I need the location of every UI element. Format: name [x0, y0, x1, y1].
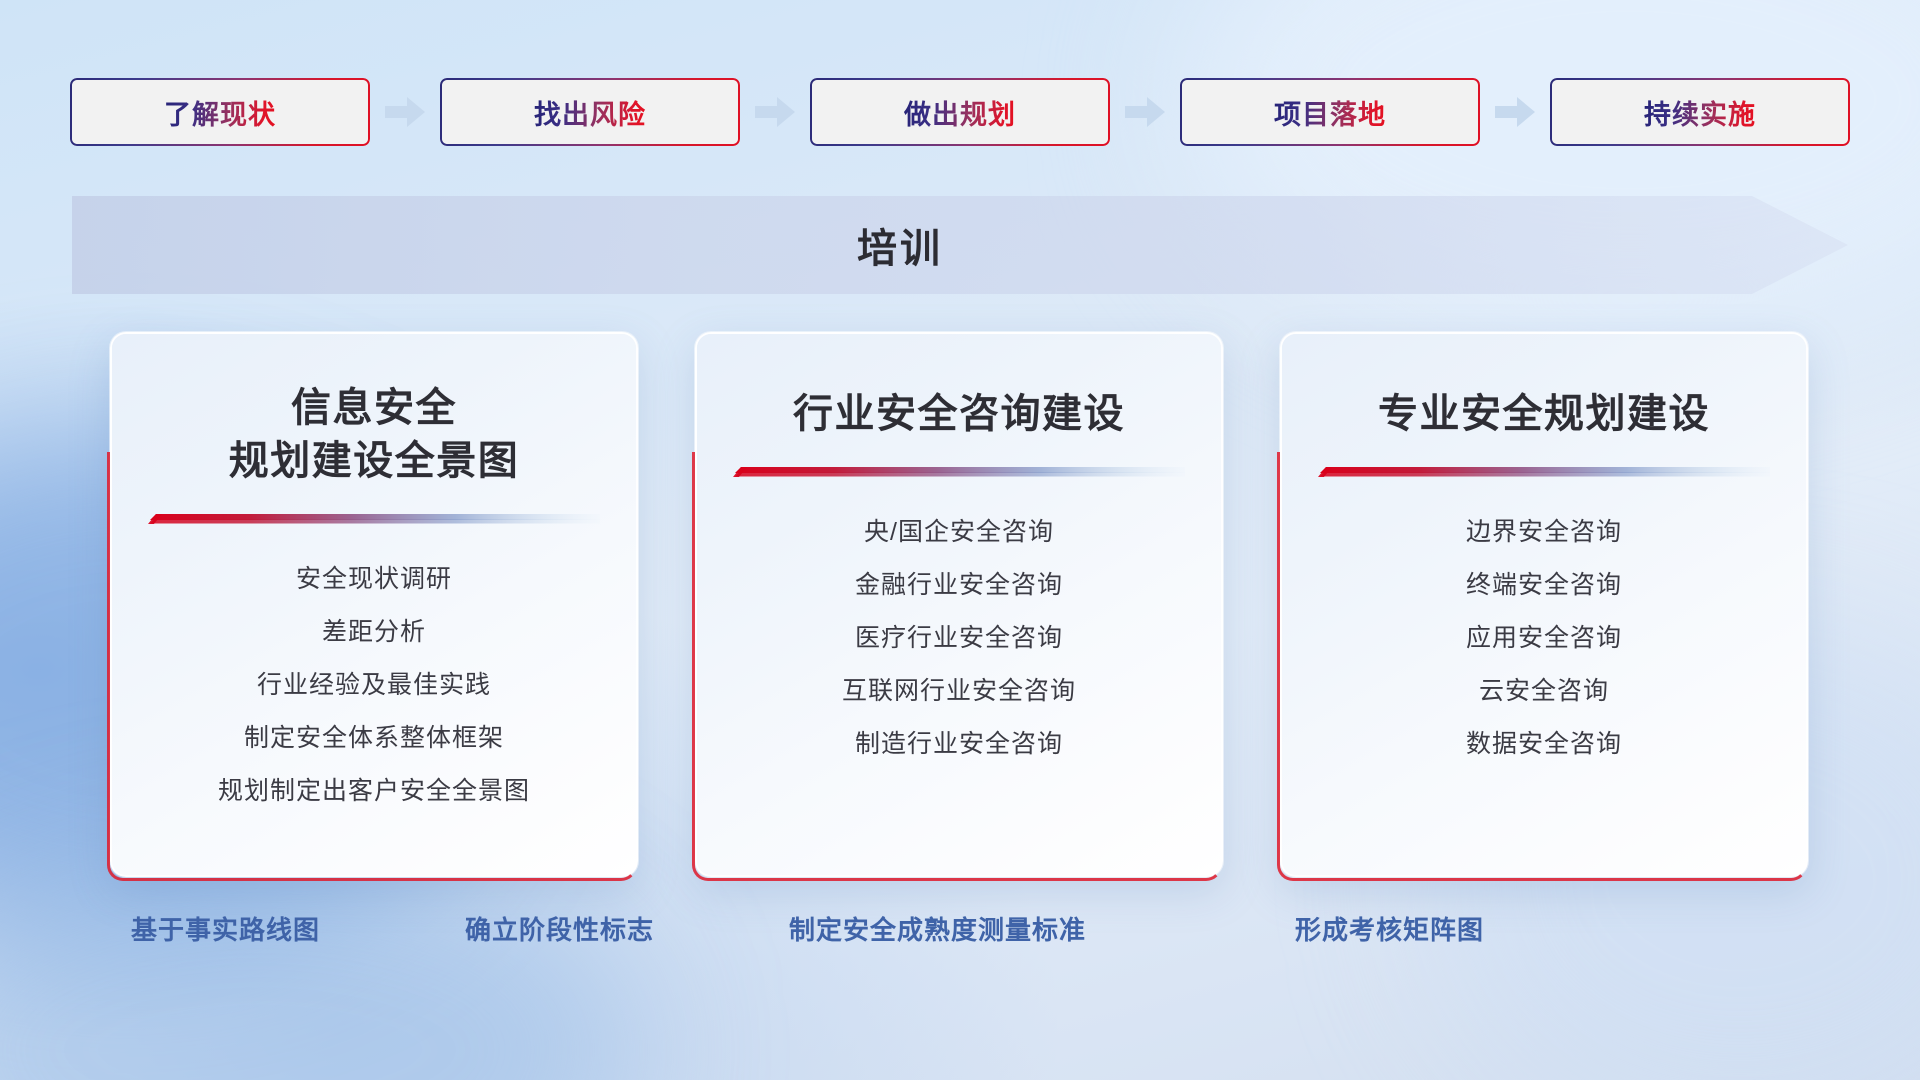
list-item: 规划制定出客户安全全景图 [218, 765, 530, 818]
card-3-body: 专业安全规划建设 [1282, 334, 1806, 875]
step-box-4[interactable]: 项目落地 [1180, 78, 1480, 146]
card-divider [148, 514, 600, 525]
training-title: 培训 [72, 196, 1728, 294]
right-arrow-icon [385, 97, 425, 127]
bottom-caption-1: 基于事实路线图 [131, 910, 320, 947]
card-1-body: 信息安全 规划建设全景图 [112, 334, 636, 875]
step-arrow-3 [1110, 97, 1180, 127]
bottom-caption-2: 确立阶段性标志 [465, 910, 654, 947]
card-item-list: 边界安全咨询 终端安全咨询 应用安全咨询 云安全咨询 数据安全咨询 [1282, 506, 1806, 771]
gradient-divider-icon [1318, 467, 1770, 478]
step-box-1-inner: 了解现状 [72, 80, 368, 144]
step-arrow-1 [370, 97, 440, 127]
card-item-list: 安全现状调研 差距分析 行业经验及最佳实践 制定安全体系整体框架 规划制定出客户… [112, 553, 636, 818]
process-step-row: 了解现状 找出风险 做出规划 [70, 78, 1850, 146]
bottom-caption-3: 制定安全成熟度测量标准 [789, 910, 1086, 947]
list-item: 行业经验及最佳实践 [257, 659, 491, 712]
step-arrow-4 [1480, 97, 1550, 127]
list-item: 医疗行业安全咨询 [855, 612, 1063, 665]
step-box-4-inner: 项目落地 [1182, 80, 1478, 144]
list-item: 云安全咨询 [1479, 665, 1609, 718]
step-arrow-2 [740, 97, 810, 127]
slide-canvas: 了解现状 找出风险 做出规划 [0, 0, 1920, 1080]
list-item: 应用安全咨询 [1466, 612, 1622, 665]
card-title: 行业安全咨询建设 [793, 388, 1125, 441]
card-2-body: 行业安全咨询建设 [697, 334, 1221, 875]
step-box-5-inner: 持续实施 [1552, 80, 1848, 144]
step-box-5[interactable]: 持续实施 [1550, 78, 1850, 146]
list-item: 金融行业安全咨询 [855, 559, 1063, 612]
list-item: 制定安全体系整体框架 [244, 712, 504, 765]
bottom-caption-row: 基于事实路线图 确立阶段性标志 制定安全成熟度测量标准 形成考核矩阵图 [0, 910, 1920, 960]
card-industry-security-consulting[interactable]: 行业安全咨询建设 [695, 332, 1223, 877]
list-item: 数据安全咨询 [1466, 718, 1622, 771]
step-label-1: 了解现状 [164, 93, 276, 132]
step-label-3: 做出规划 [904, 93, 1016, 132]
card-divider [1318, 467, 1770, 478]
step-box-3[interactable]: 做出规划 [810, 78, 1110, 146]
list-item: 央/国企安全咨询 [864, 506, 1054, 559]
step-label-2: 找出风险 [534, 93, 646, 132]
bottom-caption-4: 形成考核矩阵图 [1295, 910, 1484, 947]
step-label-4: 项目落地 [1274, 93, 1386, 132]
gradient-divider-icon [733, 467, 1185, 478]
list-item: 终端安全咨询 [1466, 559, 1622, 612]
list-item: 制造行业安全咨询 [855, 718, 1063, 771]
card-row: 信息安全 规划建设全景图 [0, 332, 1920, 877]
card-divider [733, 467, 1185, 478]
list-item: 边界安全咨询 [1466, 506, 1622, 559]
gradient-divider-icon [148, 514, 600, 525]
list-item: 差距分析 [322, 606, 426, 659]
right-arrow-icon [1495, 97, 1535, 127]
card-information-security-blueprint[interactable]: 信息安全 规划建设全景图 [110, 332, 638, 877]
background-glow-top-right [1180, 0, 1920, 360]
card-professional-security-planning[interactable]: 专业安全规划建设 [1280, 332, 1808, 877]
card-item-list: 央/国企安全咨询 金融行业安全咨询 医疗行业安全咨询 互联网行业安全咨询 制造行… [697, 506, 1221, 771]
step-box-2[interactable]: 找出风险 [440, 78, 740, 146]
list-item: 互联网行业安全咨询 [842, 665, 1076, 718]
step-label-5: 持续实施 [1644, 93, 1756, 132]
training-banner: 培训 [72, 196, 1848, 294]
right-arrow-icon [755, 97, 795, 127]
step-box-1[interactable]: 了解现状 [70, 78, 370, 146]
card-title: 专业安全规划建设 [1378, 388, 1710, 441]
right-arrow-icon [1125, 97, 1165, 127]
step-box-2-inner: 找出风险 [442, 80, 738, 144]
step-box-3-inner: 做出规划 [812, 80, 1108, 144]
list-item: 安全现状调研 [296, 553, 452, 606]
card-title: 信息安全 规划建设全景图 [229, 382, 520, 488]
